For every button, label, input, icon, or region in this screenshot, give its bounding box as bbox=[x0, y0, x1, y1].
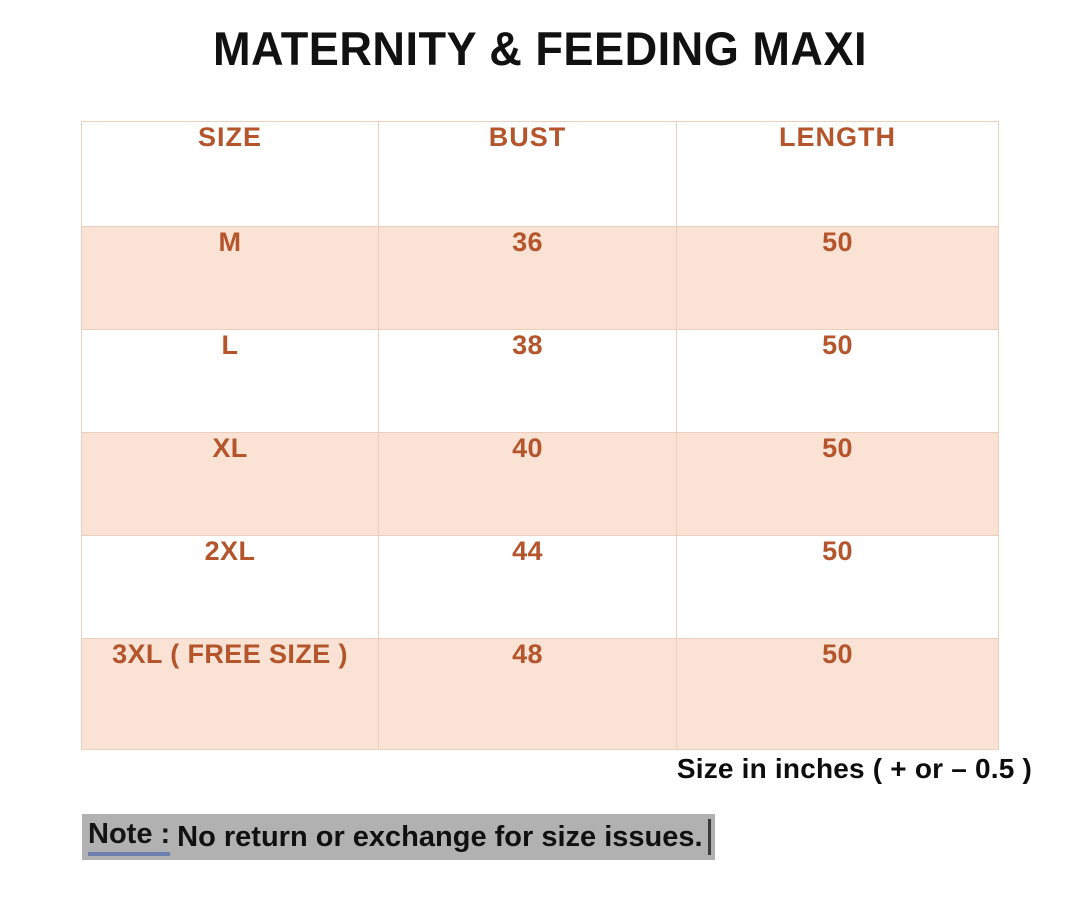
cell-bust: 48 bbox=[379, 639, 677, 750]
cell-bust: 40 bbox=[379, 433, 677, 536]
cell-size: M bbox=[82, 227, 379, 330]
cell-length: 50 bbox=[677, 433, 999, 536]
column-header-bust: BUST bbox=[379, 122, 677, 227]
size-chart-page: MATERNITY & FEEDING MAXI SIZE BUST LENGT… bbox=[0, 0, 1080, 910]
table-row: 3XL ( FREE SIZE ) 48 50 bbox=[82, 639, 999, 750]
size-chart-table: SIZE BUST LENGTH M 36 50 L 38 50 XL 40 5… bbox=[81, 121, 999, 750]
table-body: M 36 50 L 38 50 XL 40 50 2XL 44 50 3XL (… bbox=[82, 227, 999, 750]
cell-length: 50 bbox=[677, 639, 999, 750]
table-row: 2XL 44 50 bbox=[82, 536, 999, 639]
table-header: SIZE BUST LENGTH bbox=[82, 122, 999, 227]
note-label: Note : bbox=[88, 818, 170, 856]
cell-size: 2XL bbox=[82, 536, 379, 639]
cell-length: 50 bbox=[677, 330, 999, 433]
text-cursor-caret bbox=[708, 819, 711, 855]
column-header-length: LENGTH bbox=[677, 122, 999, 227]
table-row: M 36 50 bbox=[82, 227, 999, 330]
cell-bust: 38 bbox=[379, 330, 677, 433]
column-header-size: SIZE bbox=[82, 122, 379, 227]
cell-size: L bbox=[82, 330, 379, 433]
cell-bust: 36 bbox=[379, 227, 677, 330]
cell-length: 50 bbox=[677, 536, 999, 639]
table-row: XL 40 50 bbox=[82, 433, 999, 536]
page-title: MATERNITY & FEEDING MAXI bbox=[22, 22, 1059, 76]
cell-size: XL bbox=[82, 433, 379, 536]
units-footnote: Size in inches ( + or – 0.5 ) bbox=[677, 753, 1032, 785]
note-highlight-block: Note : No return or exchange for size is… bbox=[82, 814, 715, 860]
table-row: L 38 50 bbox=[82, 330, 999, 433]
cell-bust: 44 bbox=[379, 536, 677, 639]
cell-size: 3XL ( FREE SIZE ) bbox=[82, 639, 379, 750]
table-header-row: SIZE BUST LENGTH bbox=[82, 122, 999, 227]
note-text: No return or exchange for size issues. bbox=[177, 821, 702, 854]
cell-length: 50 bbox=[677, 227, 999, 330]
